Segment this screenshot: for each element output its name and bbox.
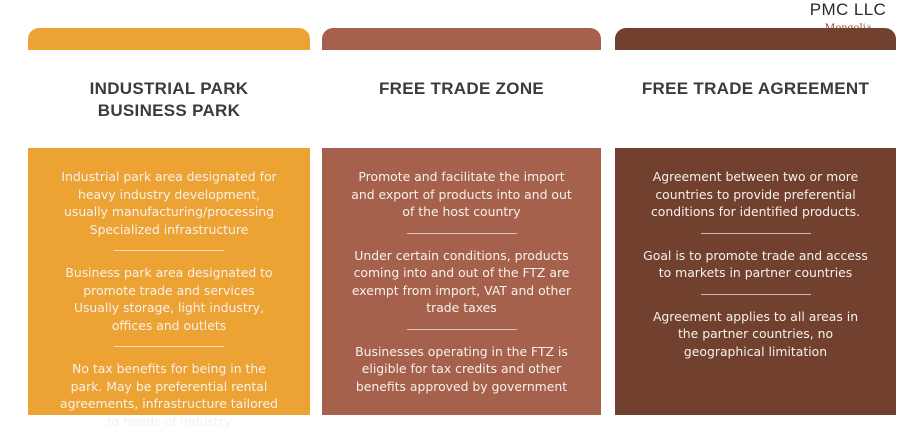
fact-line: and export of products into and out [334,186,589,204]
fact-block: Goal is to promote trade and access to m… [615,247,896,282]
fact-line: geographical limitation [627,343,884,361]
fact-line: eligible for tax credits and other [334,360,589,378]
comparison-board: INDUSTRIAL PARK BUSINESS PARK Industrial… [0,0,920,415]
fact-block: Promote and facilitate the import and ex… [322,168,601,221]
block-divider [701,294,811,295]
fact-line: of the host country [334,203,589,221]
column-title-line-2: BUSINESS PARK [28,100,310,122]
fact-line: to markets in partner countries [627,264,884,282]
fact-line: Agreement between two or more [627,168,884,186]
fact-line: conditions for identified products. [627,203,884,221]
column-panel-industrial-business-park: Industrial park area designated for heav… [28,148,310,415]
fact-line: exempt from import, VAT and other [334,282,589,300]
fact-block: Industrial park area designated for heav… [28,168,310,238]
block-divider [701,233,811,234]
column-panel-free-trade-agreement: Agreement between two or more countries … [615,148,896,415]
block-divider [114,250,224,251]
fact-line: Industrial park area designated for [40,168,298,186]
column-header-bar-free-trade-zone [322,28,601,50]
block-divider [114,346,224,347]
column-industrial-business-park: INDUSTRIAL PARK BUSINESS PARK Industrial… [28,0,310,415]
fact-line: offices and outlets [40,317,298,335]
column-panel-free-trade-zone: Promote and facilitate the import and ex… [322,148,601,415]
fact-line: countries to provide preferential [627,186,884,204]
column-title-free-trade-agreement: FREE TRADE AGREEMENT [615,78,896,100]
fact-line: Businesses operating in the FTZ is [334,343,589,361]
fact-line: promote trade and services [40,282,298,300]
column-title-free-trade-zone: FREE TRADE ZONE [322,78,601,100]
column-title-line-1: FREE TRADE ZONE [322,78,601,100]
fact-block: No tax benefits for being in the park. M… [28,360,310,430]
fact-line: to needs of industry [40,413,298,430]
column-header-bar-free-trade-agreement [615,28,896,50]
fact-line: Agreement applies to all areas in [627,308,884,326]
fact-line: coming into and out of the FTZ are [334,264,589,282]
column-header-bar-industrial-business-park [28,28,310,50]
fact-block: Business park area designated to promote… [28,264,310,334]
fact-line: Specialized infrastructure [40,221,298,239]
fact-line: heavy industry development, [40,186,298,204]
fact-line: Business park area designated to [40,264,298,282]
fact-block: Agreement applies to all areas in the pa… [615,308,896,361]
fact-line: benefits approved by government [334,378,589,396]
fact-line: No tax benefits for being in the [40,360,298,378]
block-divider [407,329,517,330]
fact-line: agreements, infrastructure tailored [40,395,298,413]
column-free-trade-zone: FREE TRADE ZONE Promote and facilitate t… [322,0,601,415]
block-divider [407,233,517,234]
fact-line: Usually storage, light industry, [40,299,298,317]
fact-line: usually manufacturing/processing [40,203,298,221]
fact-block: Agreement between two or more countries … [615,168,896,221]
fact-block: Businesses operating in the FTZ is eligi… [322,343,601,396]
fact-line: the partner countries, no [627,325,884,343]
fact-block: Under certain conditions, products comin… [322,247,601,317]
column-title-industrial-business-park: INDUSTRIAL PARK BUSINESS PARK [28,78,310,122]
column-free-trade-agreement: FREE TRADE AGREEMENT Agreement between t… [615,0,896,415]
fact-line: Promote and facilitate the import [334,168,589,186]
fact-line: Goal is to promote trade and access [627,247,884,265]
column-title-line-1: INDUSTRIAL PARK [28,78,310,100]
fact-line: park. May be preferential rental [40,378,298,396]
fact-line: Under certain conditions, products [334,247,589,265]
fact-line: trade taxes [334,299,589,317]
column-title-line-1: FREE TRADE AGREEMENT [615,78,896,100]
